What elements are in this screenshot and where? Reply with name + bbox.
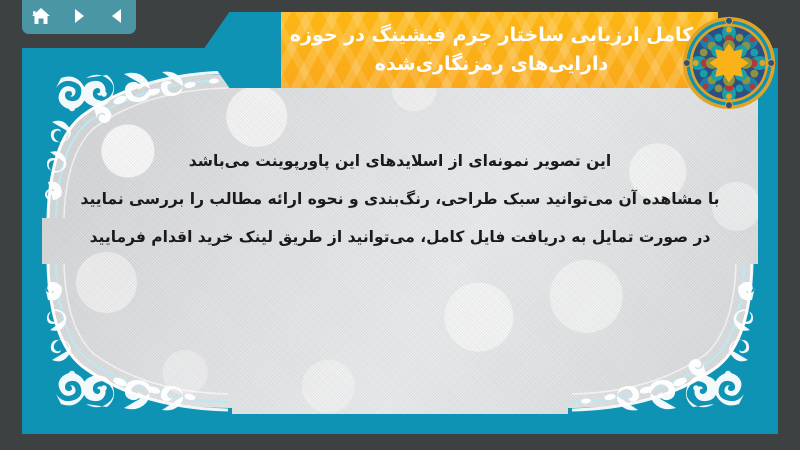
previous-triangle-icon bbox=[108, 7, 126, 25]
body-line-3: در صورت تمایل به دریافت فایل کامل، می‌تو… bbox=[62, 219, 738, 257]
slide-body-text: این تصویر نمونه‌ای از اسلایدهای این پاور… bbox=[62, 143, 738, 257]
slide-title-banner: کامل ارزیابی ساختار جرم فیشینگ در حوزه د… bbox=[281, 12, 718, 88]
slide-title-line-2: دارایی‌های رمزنگاری‌شده bbox=[375, 50, 608, 79]
slide-navigation-bar bbox=[22, 0, 136, 34]
home-button[interactable] bbox=[28, 4, 54, 28]
next-triangle-icon bbox=[70, 7, 88, 25]
mandala-medallion-icon bbox=[680, 14, 778, 112]
slide-title-line-1: کامل ارزیابی ساختار جرم فیشینگ در حوزه bbox=[290, 21, 693, 50]
body-line-2: با مشاهده آن می‌توانید سبک طراحی، رنگ‌بن… bbox=[62, 181, 738, 219]
previous-slide-button[interactable] bbox=[104, 4, 130, 28]
home-icon bbox=[31, 7, 51, 26]
body-line-1: این تصویر نمونه‌ای از اسلایدهای این پاور… bbox=[62, 143, 738, 181]
slide-root: این تصویر نمونه‌ای از اسلایدهای این پاور… bbox=[0, 0, 800, 450]
next-slide-button[interactable] bbox=[66, 4, 92, 28]
slide-content-panel: این تصویر نمونه‌ای از اسلایدهای این پاور… bbox=[22, 48, 778, 434]
